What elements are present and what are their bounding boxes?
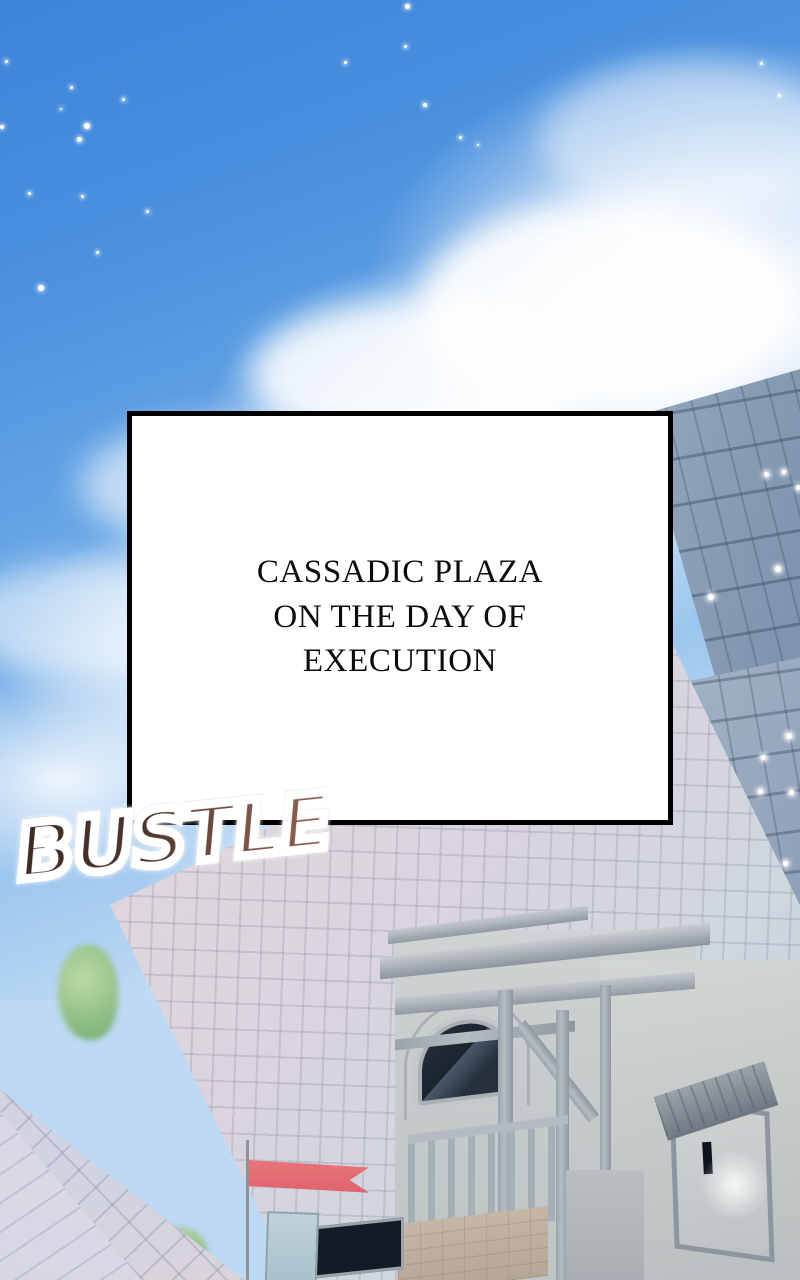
comic-panel: CASSADIC PLAZA ON THE DAY OF EXECUTION B… [0,0,800,1280]
sparkle-icon [28,192,31,195]
sparkle-icon [758,789,763,794]
sparkle-icon [796,485,800,490]
sparkle-icon [77,137,82,142]
sparkle-icon [122,98,125,101]
sparkle-icon [344,61,347,64]
caption-text: CASSADIC PLAZA ON THE DAY OF EXECUTION [257,550,543,684]
sparkle-icon [84,123,90,129]
sparkle-icon [783,861,788,866]
sparkle-icon [423,103,427,107]
sparkle-icon [775,566,781,572]
sparkle-icon [778,94,781,97]
sparkle-icon [5,60,8,63]
sparkle-icon [146,210,149,213]
sparkle-icon [60,108,62,110]
sparkle-icon [761,755,766,760]
hanging-cloth [265,1211,319,1280]
sparkle-icon [760,62,763,65]
sparkle-icon [459,136,462,139]
flag-pole [246,1140,249,1280]
sparkle-icon [38,285,44,291]
sparkle-icon [477,144,479,146]
sparkle-icon [96,251,99,254]
sparkle-icon [405,4,410,9]
sparkle-icon [782,470,786,474]
sparkle-icon [789,790,794,795]
sparkle-icon [81,195,84,198]
sparkle-icon [764,472,769,477]
sparkle-icon [70,86,73,89]
dark-window [310,1217,404,1279]
caption-box: CASSADIC PLAZA ON THE DAY OF EXECUTION [127,411,673,825]
sparkle-icon [786,733,792,739]
sparkle-icon [404,45,407,48]
sparkle-icon [708,594,714,600]
light-glow [700,1150,770,1220]
sparkle-icon [0,125,4,129]
tree [58,945,118,1040]
doorway [566,1170,644,1280]
